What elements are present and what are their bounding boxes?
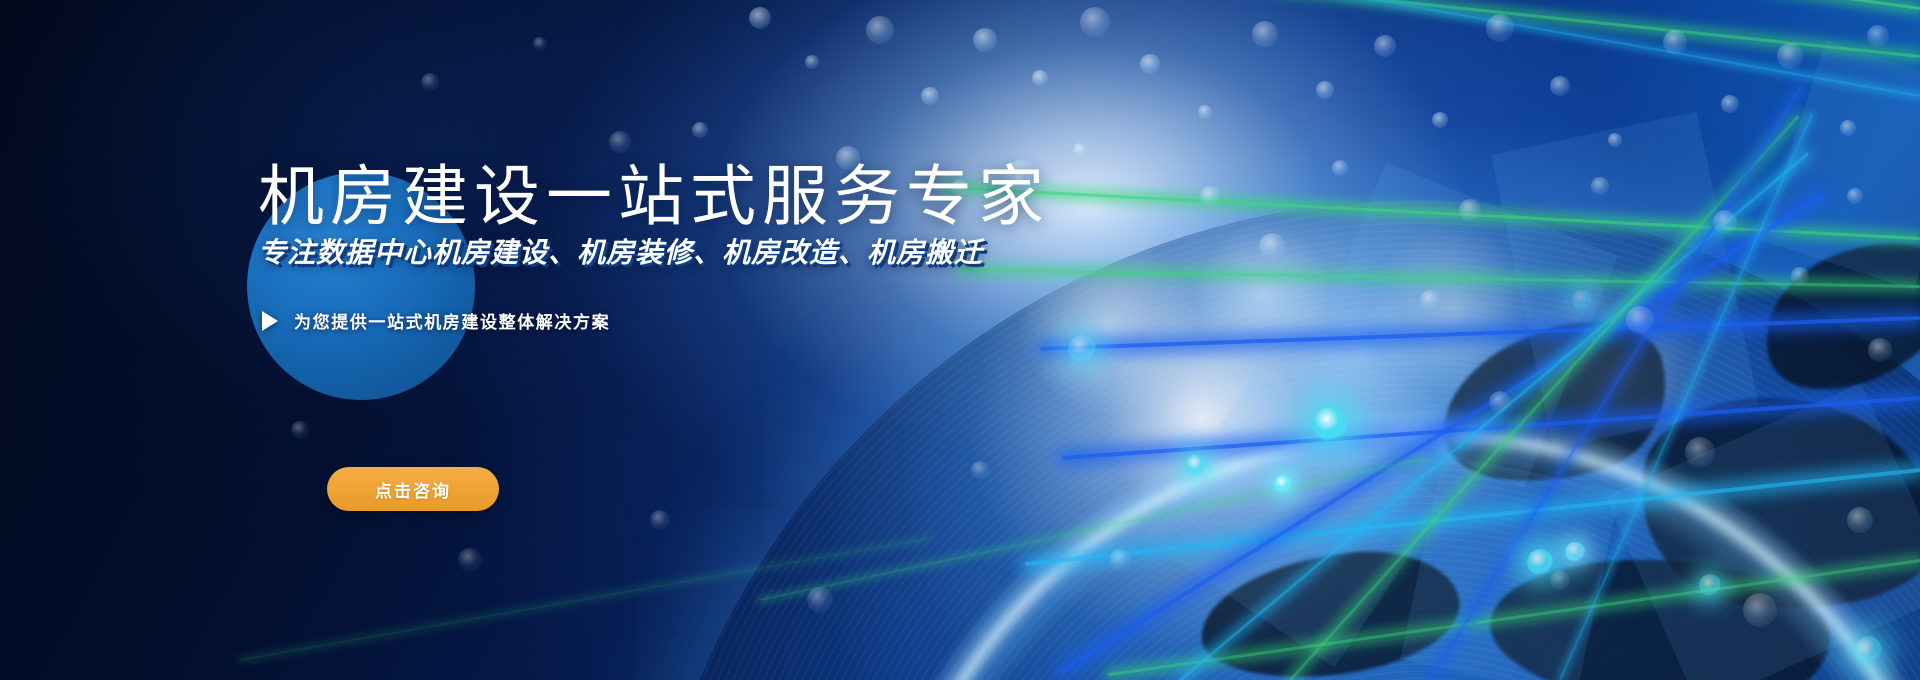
page-title: 机房建设一站式服务专家 bbox=[258, 163, 1050, 229]
page-subtitle: 专注数据中心机房建设、机房装修、机房改造、机房搬迁 bbox=[258, 238, 983, 269]
hero-content: 机房建设一站式服务专家 专注数据中心机房建设、机房装修、机房改造、机房搬迁 为您… bbox=[0, 0, 1920, 680]
tagline-text: 为您提供一站式机房建设整体解决方案 bbox=[294, 308, 610, 333]
hero-banner: 机房建设一站式服务专家 专注数据中心机房建设、机房装修、机房改造、机房搬迁 为您… bbox=[0, 0, 1920, 680]
tagline: 为您提供一站式机房建设整体解决方案 bbox=[262, 308, 610, 333]
consult-button[interactable]: 点击咨询 bbox=[327, 467, 499, 511]
play-triangle-icon bbox=[262, 311, 278, 331]
